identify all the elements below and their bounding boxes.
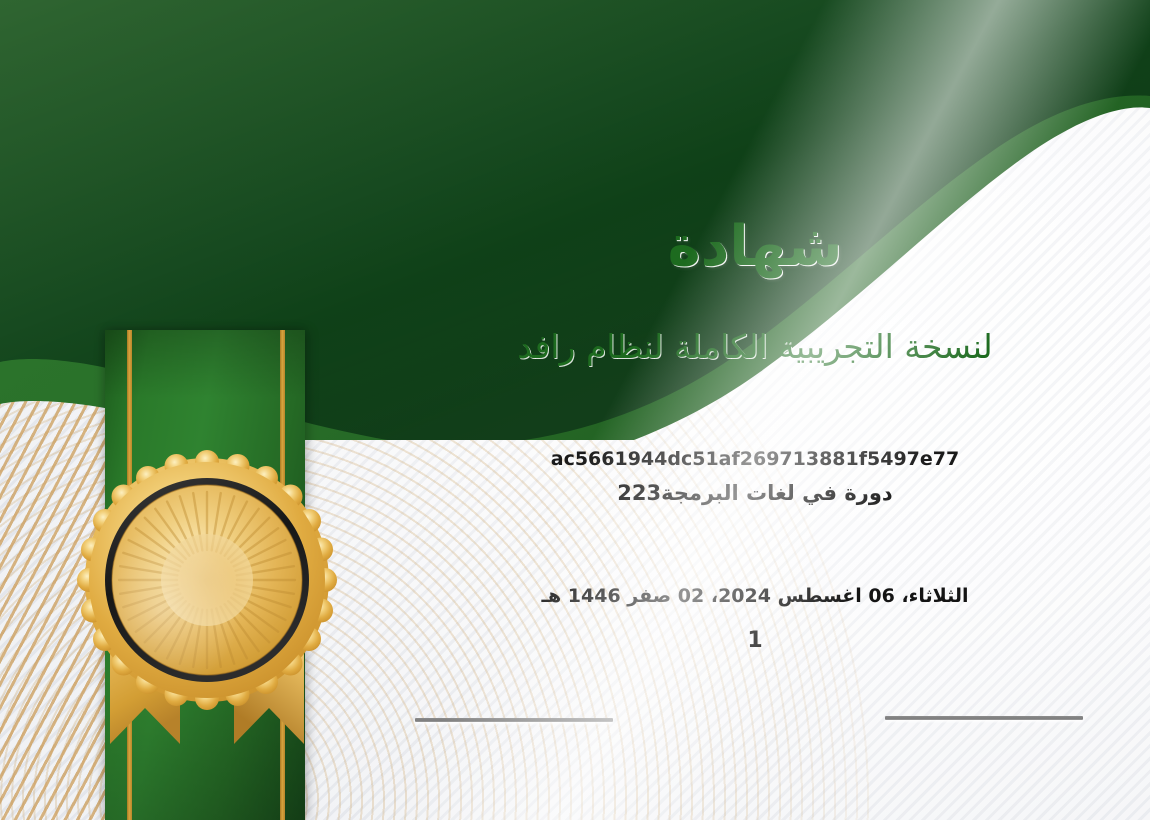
certificate-subtitle: لنسخة التجريبية الكاملة لنظام رافد	[360, 327, 1150, 366]
issue-date: الثلاثاء، 06 اغسطس 2024، 02 صفر 1446 هـ	[360, 585, 1150, 607]
course-name: دورة في لغات البرمجة223	[360, 481, 1150, 505]
gold-award-medal	[62, 440, 352, 770]
page-title: شهادة	[360, 214, 1150, 279]
verification-hash: ac5661944dc51af269713881f5497e77	[360, 448, 1150, 470]
signature-line-right	[885, 716, 1083, 720]
certificate-content: شهادة لنسخة التجريبية الكاملة لنظام رافد…	[360, 0, 1150, 820]
signature-line-left	[415, 718, 613, 722]
medal-gloss	[112, 485, 302, 675]
serial-number: 1	[360, 628, 1150, 653]
certificate-page: شهادة لنسخة التجريبية الكاملة لنظام رافد…	[0, 0, 1150, 820]
